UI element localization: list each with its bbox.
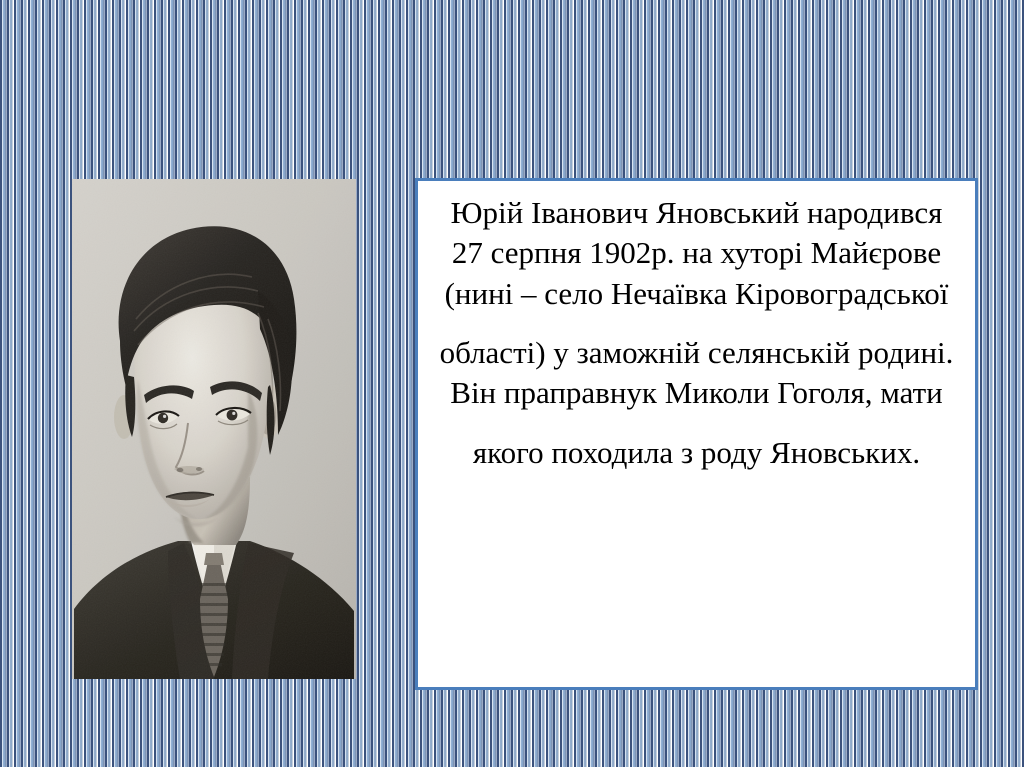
slide-canvas: Юрій Іванович Яновський народився 27 сер…: [0, 0, 1024, 767]
biography-text: Юрій Іванович Яновський народився 27 сер…: [434, 193, 959, 473]
biography-text-box: Юрій Іванович Яновський народився 27 сер…: [415, 178, 978, 690]
biography-paragraph-2: області) у заможній селянській родині. В…: [434, 333, 959, 414]
portrait-photo: [72, 179, 356, 679]
biography-paragraph-3: якого походила з роду Яновських.: [434, 433, 959, 473]
biography-paragraph-1: Юрій Іванович Яновський народився 27 сер…: [434, 193, 959, 314]
portrait-image: [72, 179, 356, 679]
